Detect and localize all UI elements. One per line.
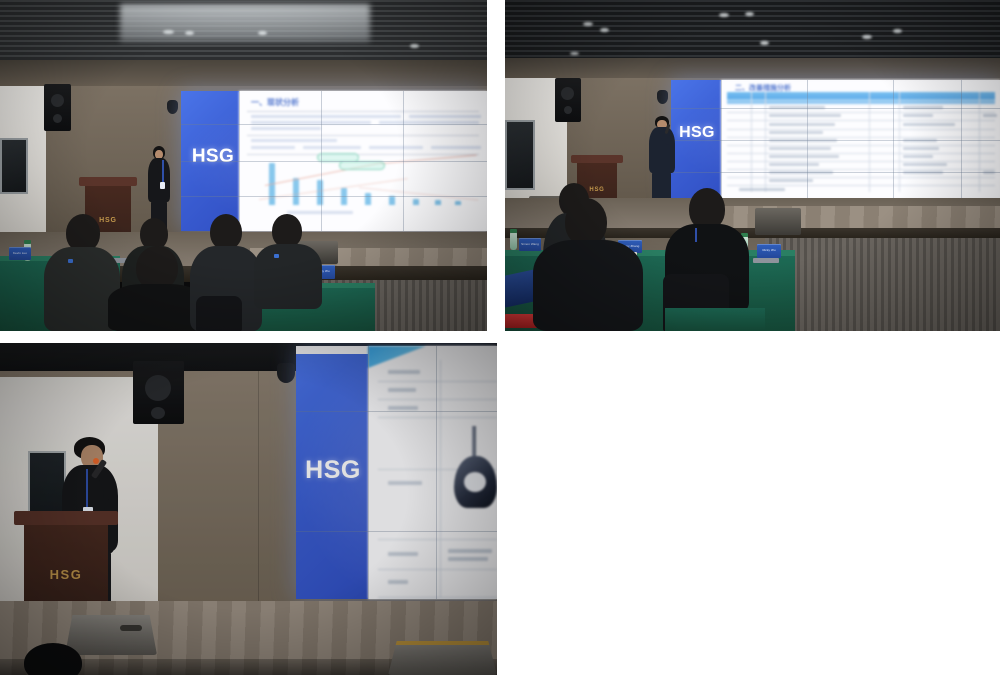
- slide-body-text: [409, 115, 481, 118]
- chart-bar: [435, 200, 441, 205]
- table-cell-text: [769, 106, 825, 109]
- audience-head: [565, 198, 607, 246]
- chart-bar: [341, 188, 347, 205]
- ceiling-downlight: [410, 44, 419, 48]
- table-cell-text: [903, 123, 955, 126]
- slide-body-text: [251, 115, 401, 118]
- table-cell-text: [388, 481, 422, 485]
- bottle-cap: [510, 229, 517, 233]
- table-cell-text: [903, 139, 937, 142]
- ceiling-downlight: [258, 31, 267, 35]
- chart-bar: [317, 180, 323, 205]
- speaker-cone: [151, 407, 165, 419]
- audience-member-foreground: [10, 643, 96, 675]
- speaker-cone: [564, 106, 572, 114]
- ceiling-downlight: [163, 30, 174, 34]
- ceiling-light-panel: [120, 4, 370, 42]
- podium-top: [79, 177, 137, 186]
- speaker-cone: [561, 87, 574, 100]
- audience-head: [210, 214, 242, 250]
- hsg-logo-screen: HSG: [300, 456, 366, 485]
- cumulative-trend-line: [381, 155, 477, 164]
- slide-body-text: [251, 146, 295, 149]
- speaker-cone: [53, 114, 62, 123]
- table-cell-text: [983, 171, 995, 174]
- side-window: [0, 138, 28, 194]
- table-column-divider: [869, 92, 870, 192]
- slide-divider: [247, 111, 479, 112]
- slide-body-text: [251, 139, 337, 142]
- table-cell-text: [903, 114, 933, 117]
- photo-panel-1[interactable]: HSG 一、现状分析: [0, 0, 487, 331]
- presentation-slide: 二、改善措施分析: [721, 80, 1000, 198]
- photo-panel-2[interactable]: HSG 二、改善措施分析: [505, 0, 1000, 331]
- table-cell-text: [769, 155, 839, 158]
- audience-head: [24, 643, 82, 675]
- audience-badge: [274, 254, 279, 258]
- table-column-divider: [899, 92, 900, 192]
- name-tent-label: Kevin Luo: [9, 251, 31, 255]
- presenter-lanyard: [86, 469, 88, 509]
- table-column-divider: [979, 92, 980, 192]
- table-row: [727, 177, 995, 186]
- wedge-strip: [388, 641, 497, 645]
- micrometer-opening: [464, 472, 486, 492]
- table-cell-text: [769, 114, 841, 117]
- chart-bar: [389, 196, 395, 205]
- presentation-slide: 一、现状分析: [239, 91, 487, 231]
- table-cell-text: [769, 131, 823, 134]
- name-tent-label: Ricky Wu: [757, 248, 781, 252]
- conference-room-scene-2: HSG 二、改善措施分析: [505, 0, 1000, 331]
- table-cell-text: [769, 171, 833, 174]
- photo-panel-3[interactable]: HSG: [0, 343, 497, 675]
- slide-body-text: [303, 146, 361, 149]
- table-cell-text: [448, 549, 492, 553]
- audience-member: [533, 198, 643, 331]
- laptop: [753, 258, 779, 263]
- presentation-slide: [368, 346, 497, 599]
- name-tent: Kevin Luo: [9, 247, 31, 260]
- podium-top: [14, 511, 118, 525]
- water-bottle: [510, 232, 517, 250]
- audience-shoulders: [533, 240, 643, 331]
- equipment-case: [755, 208, 801, 235]
- table-cell-text: [388, 552, 418, 556]
- ceiling-speaker: [133, 361, 184, 424]
- side-window: [505, 120, 535, 190]
- audience-shoulders: [254, 244, 322, 309]
- audience-head: [272, 214, 302, 248]
- conference-room-scene-1: HSG 一、现状分析: [0, 0, 487, 331]
- table-header-row: [727, 92, 995, 99]
- podium-top: [571, 155, 623, 163]
- slide-body-text: [251, 121, 371, 124]
- slide-annotation-secondary: [339, 161, 385, 170]
- podium-hsg-logo: HSG: [24, 567, 108, 582]
- ceiling-speaker: [555, 78, 581, 122]
- chart-bar: [413, 199, 419, 205]
- presenter-lanyard: [162, 160, 164, 182]
- chair-back: [196, 296, 242, 331]
- hsg-logo-screen: HSG: [189, 146, 237, 168]
- wedge-handle: [120, 625, 142, 631]
- audience-lanyard: [695, 228, 697, 242]
- speaker-cone: [51, 94, 64, 107]
- table-column-divider: [751, 92, 752, 192]
- ptz-camera: [657, 90, 668, 104]
- presenter-badge: [160, 182, 165, 189]
- slide-divider: [247, 135, 479, 136]
- table-cell-text: [769, 139, 837, 142]
- table-column-divider: [440, 360, 441, 598]
- led-video-wall[interactable]: HSG 二、改善措施分析: [671, 80, 1000, 198]
- table-cell-text: [903, 163, 947, 166]
- ceiling-downlight: [570, 52, 579, 55]
- table-column-divider: [765, 92, 766, 192]
- slide-body-text: [379, 121, 479, 124]
- hsg-logo-screen: HSG: [675, 124, 719, 142]
- table-cell-text: [903, 106, 943, 109]
- table-cell-text: [903, 147, 939, 150]
- led-video-wall[interactable]: HSG 一、现状分析: [181, 91, 487, 231]
- ptz-camera: [167, 100, 178, 114]
- ceiling-downlight: [893, 29, 902, 33]
- table-cell-text: [388, 406, 418, 410]
- slide-title: 一、现状分析: [251, 97, 299, 108]
- chart-bar: [293, 178, 299, 205]
- wall-panel-seam: [258, 371, 259, 621]
- table-cell-text: [388, 388, 416, 392]
- slide-body-text: [369, 146, 423, 149]
- chart-bar: [365, 193, 371, 205]
- slide-body-text: [251, 127, 321, 130]
- slide-body-text: [431, 146, 481, 149]
- table-cell-text: [388, 580, 408, 584]
- stage-monitor-wedge: [388, 641, 497, 675]
- photo-collage: HSG 一、现状分析: [0, 0, 1000, 675]
- ceiling-downlight: [185, 31, 194, 35]
- front-table: [665, 308, 765, 331]
- bottle-cap: [24, 240, 31, 244]
- ceiling-speaker: [44, 84, 71, 131]
- photo-panel-4-empty: [505, 343, 1000, 675]
- ceiling-downlight: [760, 41, 769, 45]
- table-cell-text: [769, 163, 819, 166]
- table-cell-text: [769, 179, 813, 182]
- audience-badge: [68, 259, 73, 263]
- led-video-wall-body[interactable]: HSG: [296, 346, 497, 599]
- table-cell-text: [983, 114, 997, 117]
- ptz-camera: [277, 363, 295, 383]
- ceiling-downlight: [583, 22, 593, 26]
- ceiling-downlight: [600, 28, 609, 32]
- audience-member: [254, 214, 322, 309]
- table-cell-text: [448, 557, 488, 561]
- ceiling-downlight: [862, 35, 872, 39]
- table-cell-text: [903, 171, 943, 174]
- ceiling-downlight: [719, 13, 729, 17]
- speaker-cone: [145, 375, 171, 401]
- name-tent: Ricky Wu: [757, 244, 781, 258]
- table-cell-text: [903, 155, 933, 158]
- table-cell-text: [769, 123, 835, 126]
- table-cell-text: [388, 370, 420, 374]
- conference-room-scene-3: HSG: [0, 343, 497, 675]
- microphone-windscreen: [93, 458, 99, 464]
- ceiling-downlight: [745, 12, 754, 16]
- table-cell-text: [769, 147, 831, 150]
- chart-bar: [455, 201, 461, 205]
